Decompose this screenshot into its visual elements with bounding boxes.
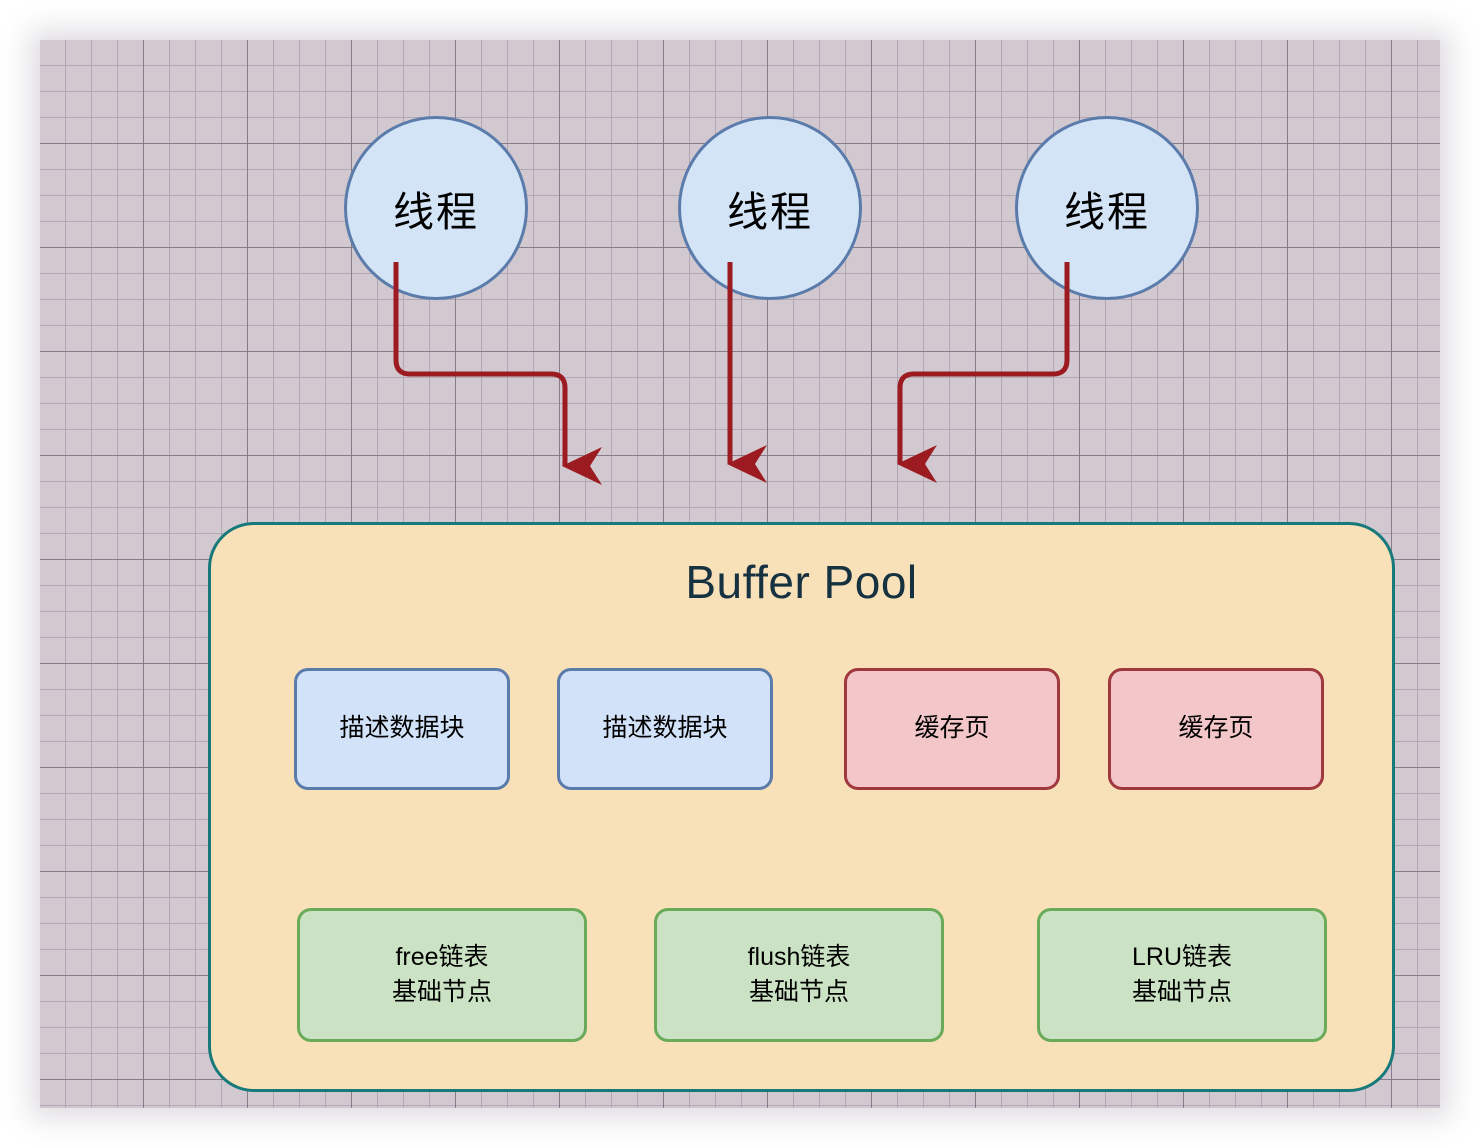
flush-list-node[interactable]: flush链表 基础节点 [654,908,944,1042]
lru-list-node[interactable]: LRU链表 基础节点 [1037,908,1327,1042]
free-list-node[interactable]: free链表 基础节点 [297,908,587,1042]
lru-list-node-line2: 基础节点 [1132,975,1232,1011]
free-list-node-line1: free链表 [392,940,492,976]
descriptor-block-2[interactable]: 描述数据块 [557,668,773,790]
diagram-stage: 线程 线程 线程 Buffer Pool 描述数据块 描述数据块 缓存页 缓存页 [0,0,1480,1148]
descriptor-block-1[interactable]: 描述数据块 [294,668,510,790]
buffer-pool-title: Buffer Pool [211,555,1392,609]
descriptor-block-2-label: 描述数据块 [602,711,727,747]
thread-node-2[interactable]: 线程 [678,116,862,300]
thread-node-1[interactable]: 线程 [344,116,528,300]
cache-page-1[interactable]: 缓存页 [844,668,1060,790]
descriptor-block-1-label: 描述数据块 [339,711,464,747]
cache-page-2[interactable]: 缓存页 [1108,668,1324,790]
grid-canvas: 线程 线程 线程 Buffer Pool 描述数据块 描述数据块 缓存页 缓存页 [40,40,1440,1108]
free-list-node-line2: 基础节点 [392,975,492,1011]
flush-list-node-line2: 基础节点 [748,975,851,1011]
thread-node-1-label: 线程 [393,178,479,238]
thread-node-2-label: 线程 [727,178,813,238]
thread-node-3[interactable]: 线程 [1015,116,1199,300]
flush-list-node-line1: flush链表 [748,940,851,976]
lru-list-node-line1: LRU链表 [1132,940,1232,976]
cache-page-1-label: 缓存页 [914,711,989,747]
thread-node-3-label: 线程 [1064,178,1150,238]
cache-page-2-label: 缓存页 [1178,711,1253,747]
buffer-pool-container[interactable]: Buffer Pool 描述数据块 描述数据块 缓存页 缓存页 free链表 基… [208,522,1395,1092]
